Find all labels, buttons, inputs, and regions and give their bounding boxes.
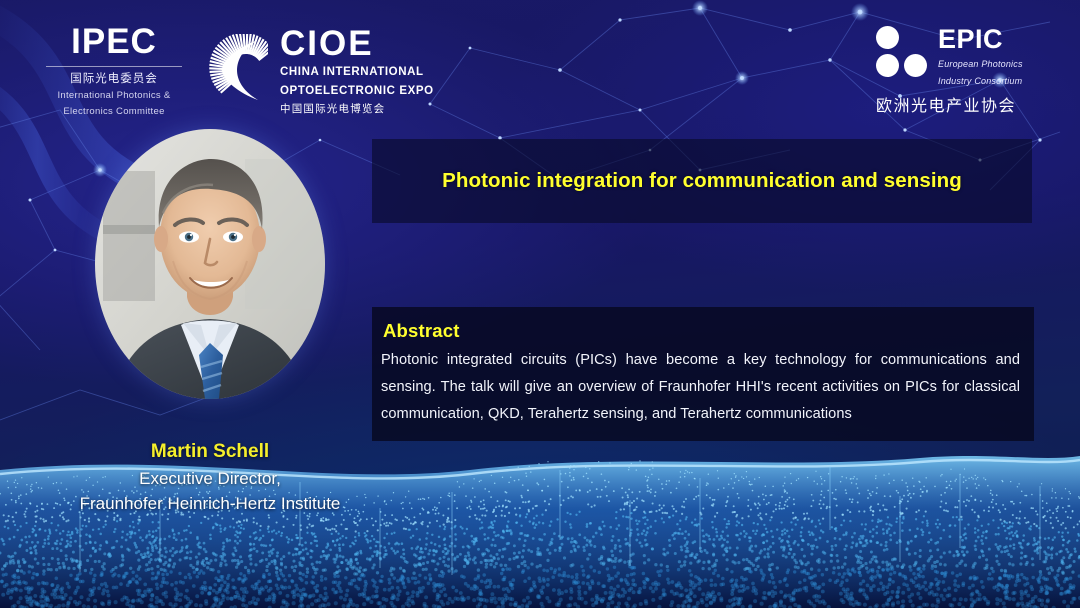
presentation-slide: IPEC 国际光电委员会 International Photonics & E… xyxy=(0,0,1080,608)
talk-title: Photonic integration for communication a… xyxy=(442,169,962,193)
ipec-chinese-label: 国际光电委员会 xyxy=(44,72,184,87)
speaker-role: Executive Director, xyxy=(30,466,390,492)
epic-subtitle-line1: European Photonics xyxy=(938,58,1023,70)
speaker-info: Martin Schell Executive Director, Fraunh… xyxy=(30,438,390,517)
ipec-english-line1: International Photonics & xyxy=(44,89,184,103)
ipec-divider xyxy=(46,66,182,67)
epic-wordmark: EPIC xyxy=(938,26,1023,53)
cioe-logo: CIOE CHINA INTERNATIONAL OPTOELECTRONIC … xyxy=(196,24,434,116)
cioe-burst-icon xyxy=(196,34,268,106)
epic-subtitle-line2: Industry Consortium xyxy=(938,75,1023,87)
epic-chinese-label: 欧洲光电产业协会 xyxy=(876,92,1048,116)
abstract-heading: Abstract xyxy=(383,320,1024,342)
abstract-panel: Abstract Photonic integrated circuits (P… xyxy=(372,307,1034,441)
logo-bar: IPEC 国际光电委员会 International Photonics & E… xyxy=(0,0,1080,120)
ipec-wordmark: IPEC xyxy=(44,24,184,59)
cioe-english-line2: OPTOELECTRONIC EXPO xyxy=(280,84,434,99)
speaker-organization: Fraunhofer Heinrich-Hertz Institute xyxy=(30,491,390,517)
ipec-logo: IPEC 国际光电委员会 International Photonics & E… xyxy=(44,24,184,118)
cioe-english-line1: CHINA INTERNATIONAL xyxy=(280,65,434,80)
epic-three-dots-icon xyxy=(876,26,930,77)
ipec-english-line2: Electronics Committee xyxy=(44,105,184,119)
talk-title-band: Photonic integration for communication a… xyxy=(372,139,1032,223)
speaker-name: Martin Schell xyxy=(30,438,390,466)
speaker-portrait xyxy=(95,129,325,399)
cioe-chinese-label: 中国国际光电博览会 xyxy=(280,101,434,116)
epic-logo: EPIC European Photonics Industry Consort… xyxy=(876,26,1048,116)
cioe-wordmark: CIOE xyxy=(280,26,434,61)
abstract-body: Photonic integrated circuits (PICs) have… xyxy=(381,347,1024,428)
